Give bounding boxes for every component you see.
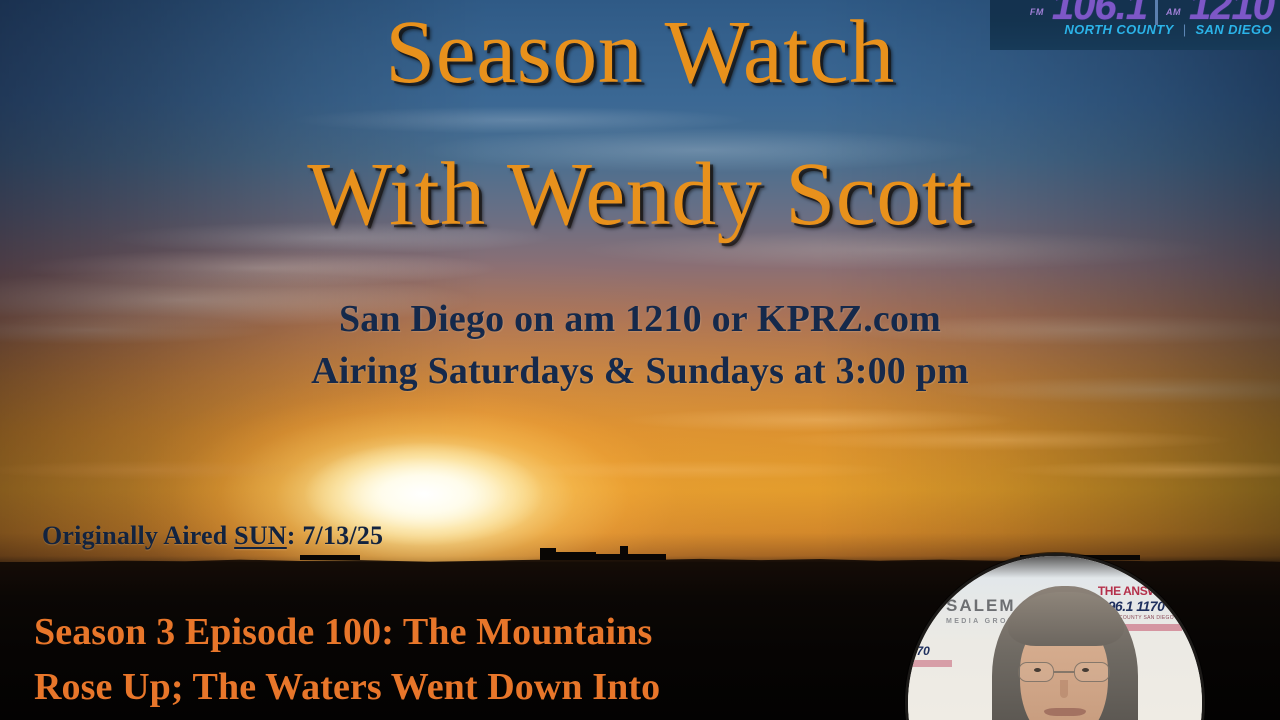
station-logo: FM 106.1 AM 1210 NORTH COUNTY | SAN DIEG… bbox=[990, 0, 1280, 50]
show-title-line-2: With Wendy Scott bbox=[0, 150, 1280, 240]
episode-title-line-2: Rose Up; The Waters Went Down Into bbox=[34, 660, 980, 715]
host-headshot-avatar: SALEM MEDIA GROUP THE ANSWER 96.1 1170 N… bbox=[905, 553, 1205, 720]
am-frequency: 1210 bbox=[1189, 0, 1274, 29]
horizon-building bbox=[540, 548, 556, 560]
horizon-building bbox=[620, 546, 628, 560]
station-logo-markets: NORTH COUNTY | SAN DIEGO bbox=[1064, 22, 1272, 37]
horizon-building bbox=[300, 555, 360, 560]
broadcast-station-line: San Diego on am 1210 or KPRZ.com bbox=[0, 293, 1280, 345]
horizon-building bbox=[556, 552, 596, 560]
am-prefix-label: AM bbox=[1166, 7, 1181, 17]
host-nose bbox=[1060, 680, 1068, 698]
logo-divider bbox=[1155, 0, 1158, 25]
fm-frequency: 106.1 bbox=[1052, 0, 1147, 29]
market-separator: | bbox=[1183, 22, 1187, 37]
market-north-county: NORTH COUNTY bbox=[1064, 22, 1173, 37]
backdrop-left-frequency: 1170 bbox=[905, 644, 930, 658]
backdrop-salem-name: SALEM bbox=[946, 596, 1016, 615]
show-promo-graphic: Season Watch With Wendy Scott San Diego … bbox=[0, 0, 1280, 720]
broadcast-schedule-line: Airing Saturdays & Sundays at 3:00 pm bbox=[0, 345, 1280, 397]
host-mouth bbox=[1044, 708, 1086, 716]
answer-brand-line: THE ANSWER bbox=[1090, 584, 1182, 598]
fm-prefix-label: FM bbox=[1030, 7, 1044, 17]
aired-prefix: Originally Aired bbox=[42, 521, 234, 550]
eyeglass-lens-right bbox=[1074, 662, 1110, 682]
market-san-diego: SAN DIEGO bbox=[1195, 22, 1272, 37]
broadcast-info: San Diego on am 1210 or KPRZ.com Airing … bbox=[0, 293, 1280, 398]
headshot-top-shadow bbox=[908, 556, 1202, 578]
host-eyeglasses bbox=[1018, 662, 1110, 682]
backdrop-left-logo: 1170 bbox=[905, 644, 952, 667]
episode-title: Season 3 Episode 100: The Mountains Rose… bbox=[34, 605, 980, 715]
aired-day: SUN bbox=[234, 521, 287, 550]
eyeglass-bridge bbox=[1054, 671, 1074, 673]
backdrop-left-bar bbox=[905, 660, 952, 667]
aired-date: : 7/13/25 bbox=[287, 521, 383, 550]
station-logo-frequencies: FM 106.1 AM 1210 bbox=[990, 0, 1274, 29]
originally-aired-line: Originally Aired SUN: 7/13/25 bbox=[42, 521, 383, 551]
eyeglass-lens-left bbox=[1018, 662, 1054, 682]
horizon-building bbox=[596, 554, 666, 560]
episode-title-line-1: Season 3 Episode 100: The Mountains bbox=[34, 605, 980, 660]
